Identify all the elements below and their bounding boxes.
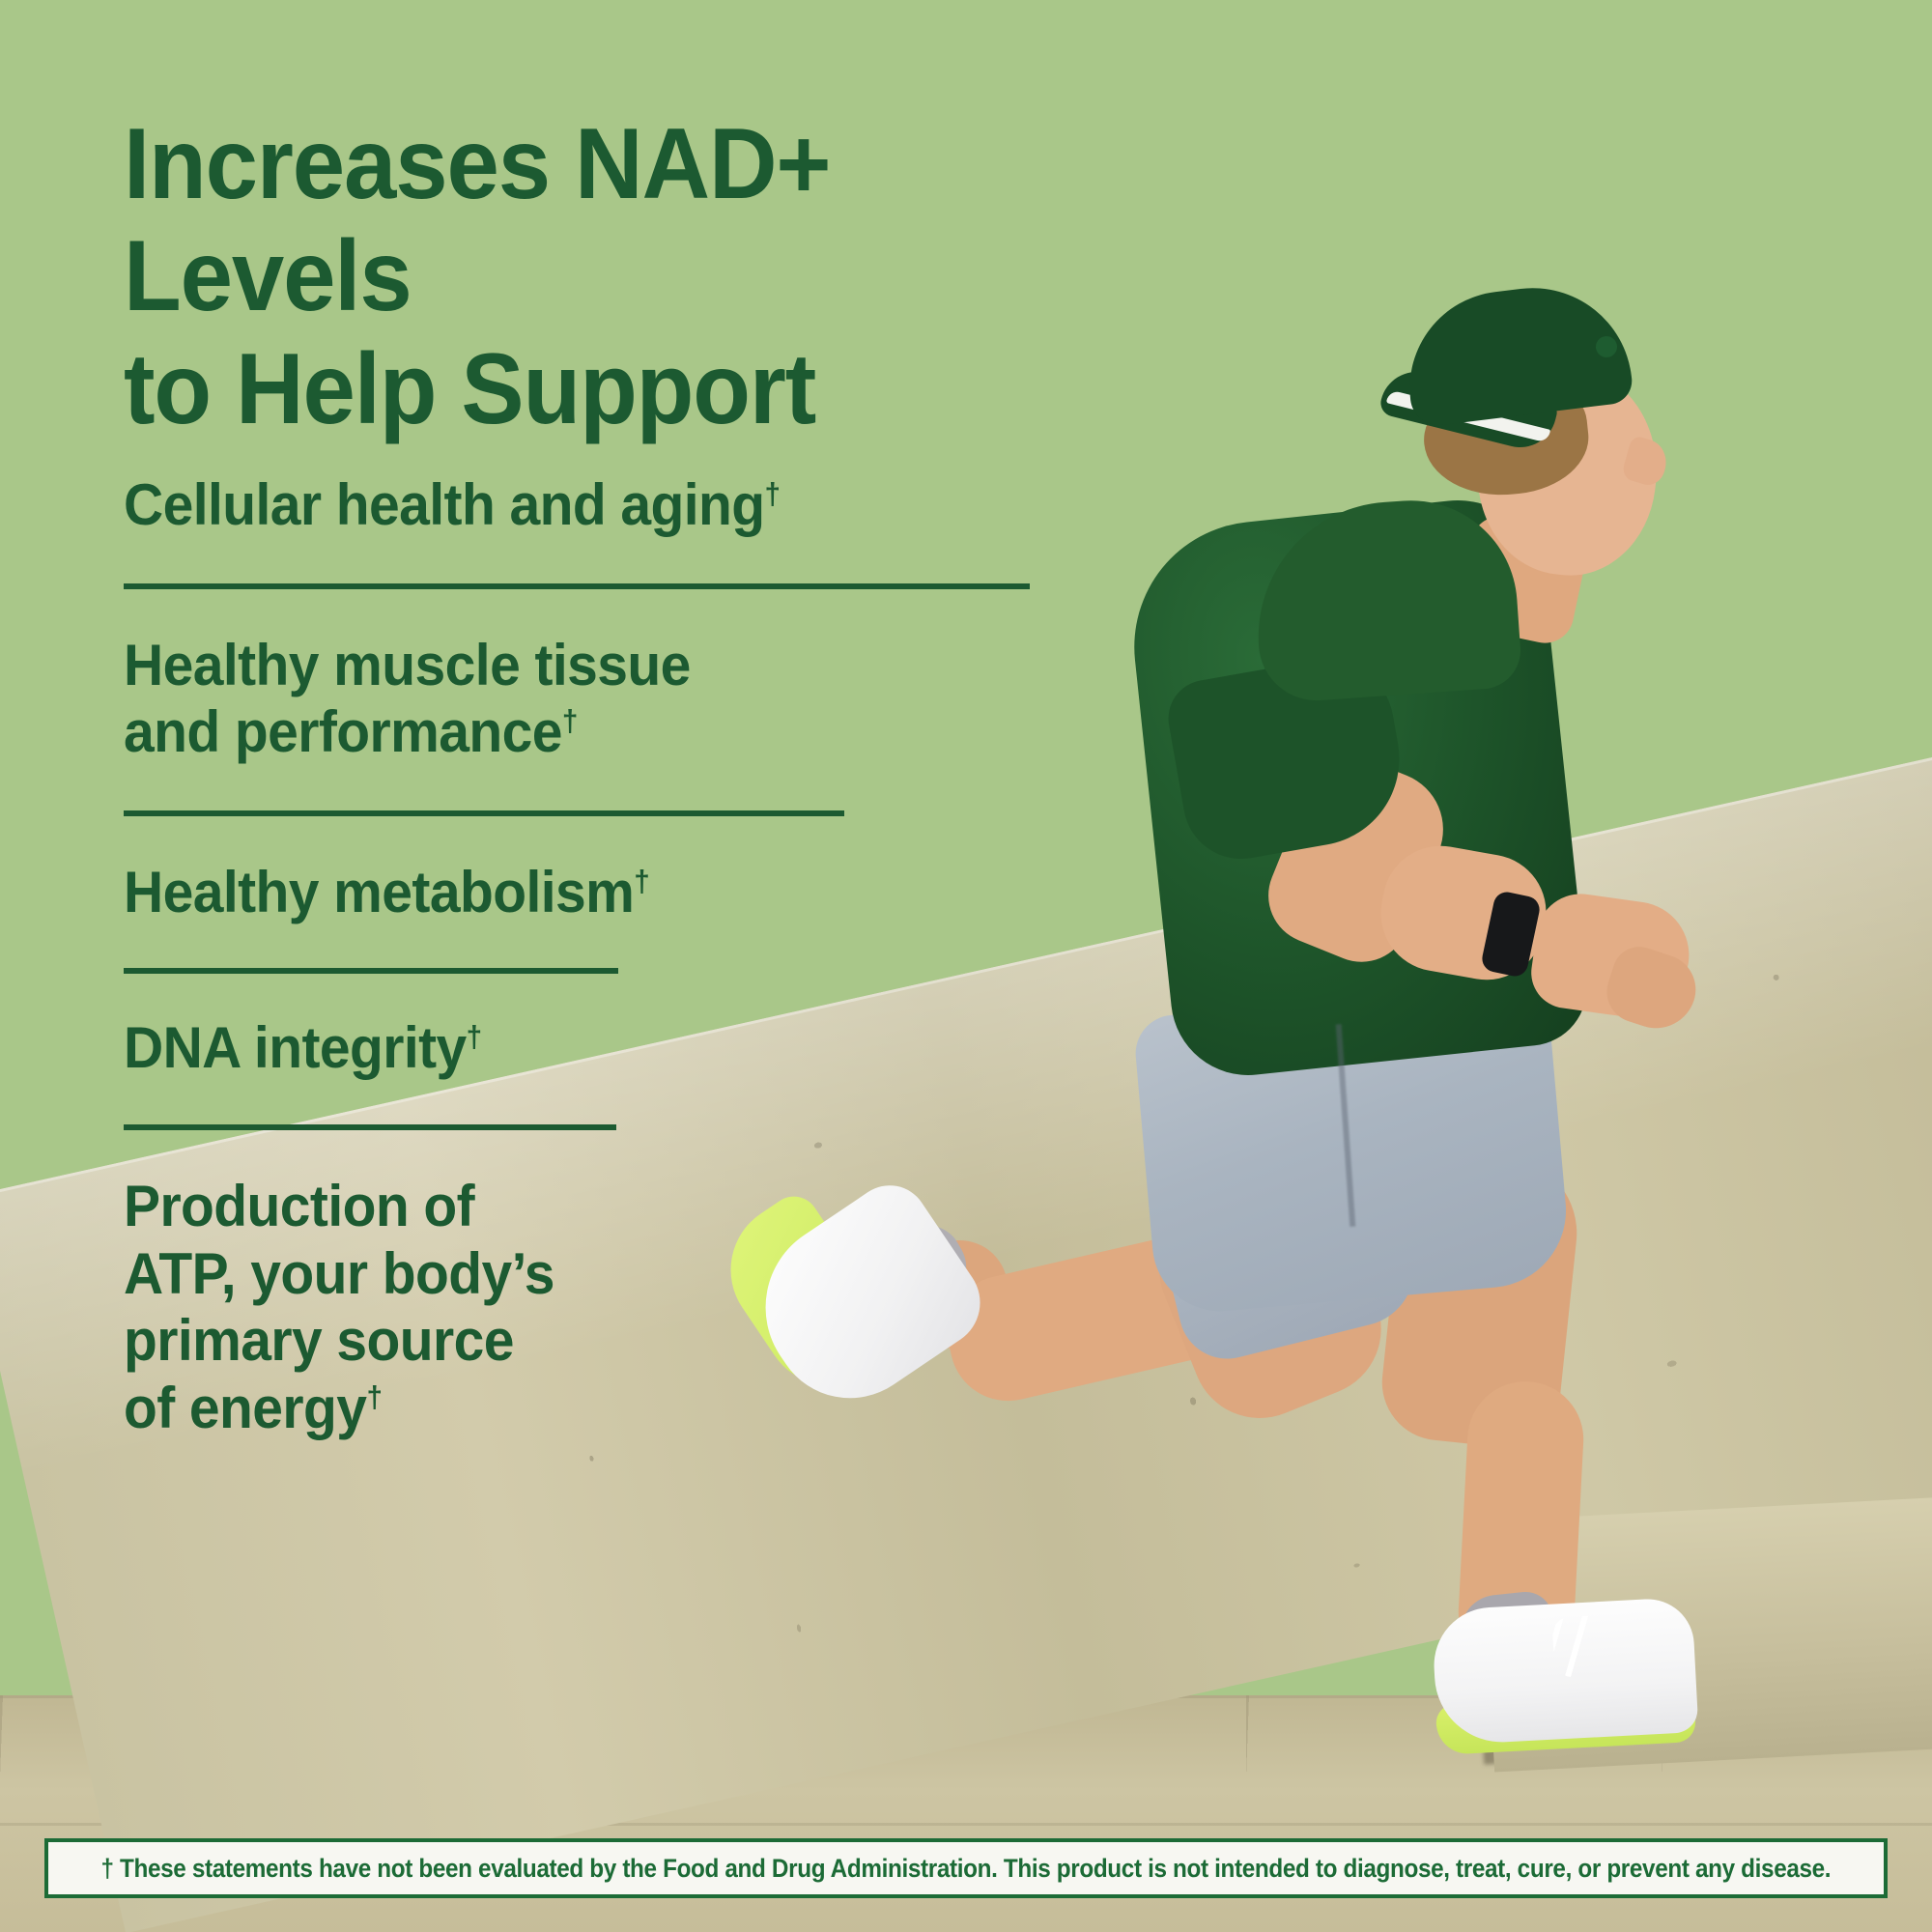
- dagger-symbol: †: [467, 1020, 482, 1054]
- benefit-divider: [124, 1124, 616, 1130]
- benefit-item-dna-integrity: DNA integrity†: [124, 1014, 1090, 1130]
- benefit-label: DNA integrity†: [124, 1014, 1041, 1082]
- dagger-symbol: †: [634, 865, 649, 898]
- benefit-label: Production of ATP, your body’s primary s…: [124, 1173, 1041, 1441]
- benefit-item-cellular-health: Cellular health and aging†: [124, 471, 1090, 589]
- benefit-label-text: Healthy metabolism: [124, 860, 634, 924]
- benefit-item-atp-production: Production of ATP, your body’s primary s…: [124, 1173, 1090, 1441]
- benefit-label-text: DNA integrity: [124, 1015, 467, 1080]
- benefit-label: Healthy muscle tissue and performance†: [124, 632, 1041, 766]
- benefit-label: Cellular health and aging†: [124, 471, 1041, 539]
- benefit-label: Healthy metabolism†: [124, 859, 1041, 926]
- fda-disclaimer-box: † These statements have not been evaluat…: [44, 1838, 1888, 1898]
- benefit-item-muscle-tissue: Healthy muscle tissue and performance†: [124, 632, 1090, 816]
- dagger-symbol: †: [562, 704, 578, 738]
- rear-shoe-laces: [1551, 1612, 1644, 1678]
- infographic-canvas: Increases NAD+ Levels to Help Support Ce…: [0, 0, 1932, 1932]
- benefits-list: Cellular health and aging† Healthy muscl…: [124, 471, 1090, 1441]
- dagger-symbol: †: [765, 477, 781, 511]
- fda-disclaimer-text: † These statements have not been evaluat…: [101, 1854, 1832, 1884]
- benefit-item-metabolism: Healthy metabolism†: [124, 859, 1090, 975]
- page-title: Increases NAD+ Levels to Help Support: [124, 108, 1086, 445]
- benefit-label-text: Production of ATP, your body’s primary s…: [124, 1174, 554, 1440]
- dagger-symbol: †: [366, 1380, 382, 1414]
- benefit-divider: [124, 583, 1030, 589]
- benefit-label-text: Cellular health and aging: [124, 472, 765, 537]
- benefit-divider: [124, 810, 844, 816]
- benefit-label-text: Healthy muscle tissue and performance: [124, 633, 691, 765]
- benefit-divider: [124, 968, 618, 974]
